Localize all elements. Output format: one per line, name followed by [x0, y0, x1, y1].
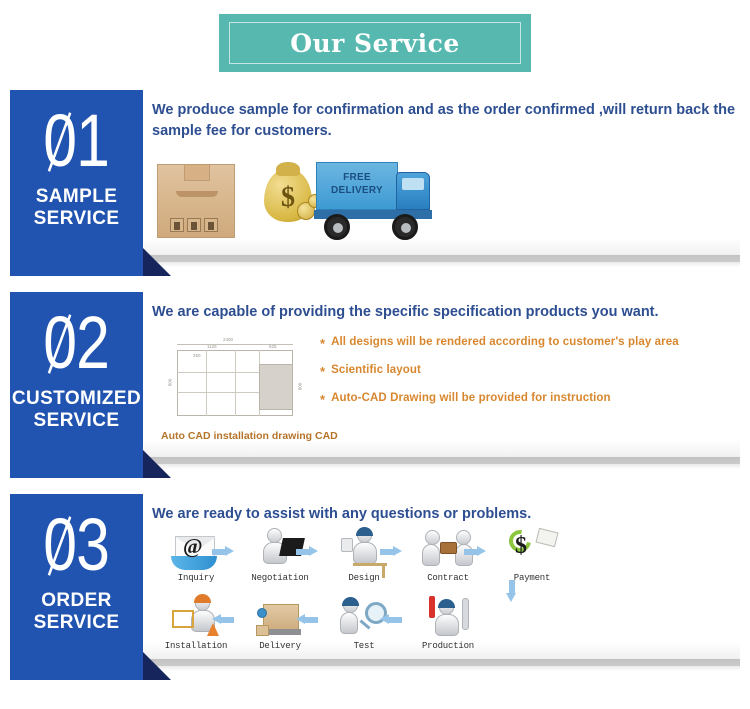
page-title: Our Service	[290, 29, 460, 58]
service-headline: We are capable of providing the specific…	[152, 292, 740, 323]
bullet-text: Scientific layout	[331, 364, 421, 378]
flow-step-production: Production	[406, 594, 490, 658]
feature-bullet-list: * All designs will be rendered according…	[320, 336, 740, 420]
order-process-flow: @ Inquiry Negotiation	[154, 526, 574, 662]
service-number: 02	[44, 306, 110, 380]
flow-step-design: Design	[322, 526, 406, 590]
cad-dim-value: 525	[269, 344, 277, 349]
service-row-order: 03 ORDER SERVICE We are ready to assist …	[0, 494, 750, 680]
number-block-03: 03 ORDER SERVICE	[10, 494, 143, 680]
service-label: CUSTOMIZED SERVICE	[12, 388, 141, 431]
flow-arrow-right	[464, 546, 486, 557]
flow-step-label: Negotiation	[251, 573, 308, 583]
bullet-text: Auto-CAD Drawing will be provided for in…	[331, 392, 611, 406]
list-item: * Scientific layout	[320, 364, 740, 378]
service-row-sample: 01 SAMPLE SERVICE We produce sample for …	[0, 90, 750, 276]
cad-dim-value: 2400	[223, 337, 233, 342]
free-delivery-truck-icon: $ FREE DELIVERY	[264, 156, 434, 248]
service-label-line2: SERVICE	[12, 410, 141, 432]
worker-tools-icon	[423, 596, 473, 638]
banner-border: Our Service	[229, 22, 521, 64]
service-headline: We are ready to assist with any question…	[152, 494, 740, 525]
cad-plan-view: 2400 1125 525 250 800 800	[163, 334, 311, 426]
cardboard-box-icon	[157, 164, 235, 238]
money-recycle-icon: $	[507, 528, 557, 570]
flow-step-label: Contract	[427, 573, 469, 583]
service-number: 03	[44, 508, 110, 582]
number-digit: 3	[77, 503, 110, 586]
box-seam	[176, 191, 218, 197]
cad-dim-value: 800	[297, 383, 302, 391]
flow-step-label: Delivery	[259, 641, 301, 651]
service-page: Our Service 01 SAMPLE SERVICE We produce…	[0, 0, 750, 709]
service-label: ORDER SERVICE	[34, 590, 120, 633]
flow-arrow-right	[296, 546, 318, 557]
service-label-line2: SERVICE	[34, 208, 120, 230]
corner-notch	[143, 450, 171, 478]
asterisk-icon: *	[320, 336, 325, 350]
flow-step-payment: $ Payment	[490, 526, 574, 590]
box-symbols	[170, 218, 218, 232]
service-label-line1: SAMPLE	[34, 186, 120, 208]
process-flow-row-bottom: Installation Delivery	[154, 594, 574, 658]
slashed-zero-glyph: 0	[44, 104, 77, 178]
service-content: We produce sample for confirmation and a…	[152, 90, 740, 262]
page-banner: Our Service	[219, 14, 531, 72]
flow-step-installation: Installation	[154, 594, 238, 658]
asterisk-icon: *	[320, 392, 325, 406]
flow-arrow-right	[380, 546, 402, 557]
corner-notch	[143, 248, 171, 276]
flow-arrow-right	[212, 546, 234, 557]
cad-dim-value: 800	[167, 379, 172, 387]
truck-text-line1: FREE	[343, 172, 371, 183]
list-item: * All designs will be rendered according…	[320, 336, 740, 350]
truck-text-line2: DELIVERY	[331, 185, 383, 196]
service-label: SAMPLE SERVICE	[34, 186, 120, 229]
service-content: We are ready to assist with any question…	[152, 494, 740, 666]
flow-step-label: Test	[354, 641, 375, 651]
cad-dim-value: 1125	[207, 344, 217, 349]
truck-cargo-box: FREE DELIVERY	[316, 162, 398, 210]
flow-step-label: Installation	[165, 641, 227, 651]
service-content: We are capable of providing the specific…	[152, 292, 740, 464]
list-item: * Auto-CAD Drawing will be provided for …	[320, 392, 740, 406]
cad-shaded-region	[259, 364, 293, 410]
slashed-zero-glyph: 0	[44, 508, 77, 582]
service-number: 01	[44, 104, 110, 178]
flow-step-inquiry: @ Inquiry	[154, 526, 238, 590]
number-block-02: 02 CUSTOMIZED SERVICE	[10, 292, 143, 478]
flow-step-negotiation: Negotiation	[238, 526, 322, 590]
number-block-01: 01 SAMPLE SERVICE	[10, 90, 143, 276]
box-tape-icon	[184, 164, 210, 181]
flow-arrow-left	[296, 614, 318, 625]
service-label-line1: CUSTOMIZED	[12, 388, 141, 410]
truck-wheel	[392, 214, 418, 240]
flow-arrow-left	[212, 614, 234, 625]
flow-step-label: Design	[348, 573, 379, 583]
slashed-zero-glyph: 0	[44, 306, 77, 380]
cad-drawing-figure: 2400 1125 525 250 800 800 Auto CAD insta…	[157, 330, 327, 450]
flow-step-label: Inquiry	[178, 573, 214, 583]
sample-illustration: $ FREE DELIVERY	[152, 152, 452, 252]
number-digit: 2	[77, 301, 110, 384]
flow-arrow-left	[380, 614, 402, 625]
service-headline: We produce sample for confirmation and a…	[152, 90, 740, 141]
flow-arrow-down	[506, 580, 517, 602]
number-digit: 1	[77, 99, 110, 182]
flow-step-delivery: Delivery	[238, 594, 322, 658]
bullet-text: All designs will be rendered according t…	[331, 336, 679, 350]
asterisk-icon: *	[320, 364, 325, 378]
service-label-line1: ORDER	[34, 590, 120, 612]
truck-wheel	[324, 214, 350, 240]
service-label-line2: SERVICE	[34, 612, 120, 634]
truck-cab	[396, 172, 430, 210]
flow-step-label: Production	[422, 641, 474, 651]
corner-notch	[143, 652, 171, 680]
flow-step-contract: Contract	[406, 526, 490, 590]
flow-step-label: Payment	[514, 573, 550, 583]
flow-step-test: Test	[322, 594, 406, 658]
service-row-customized: 02 CUSTOMIZED SERVICE We are capable of …	[0, 292, 750, 478]
cad-caption: Auto CAD installation drawing CAD	[161, 430, 338, 442]
